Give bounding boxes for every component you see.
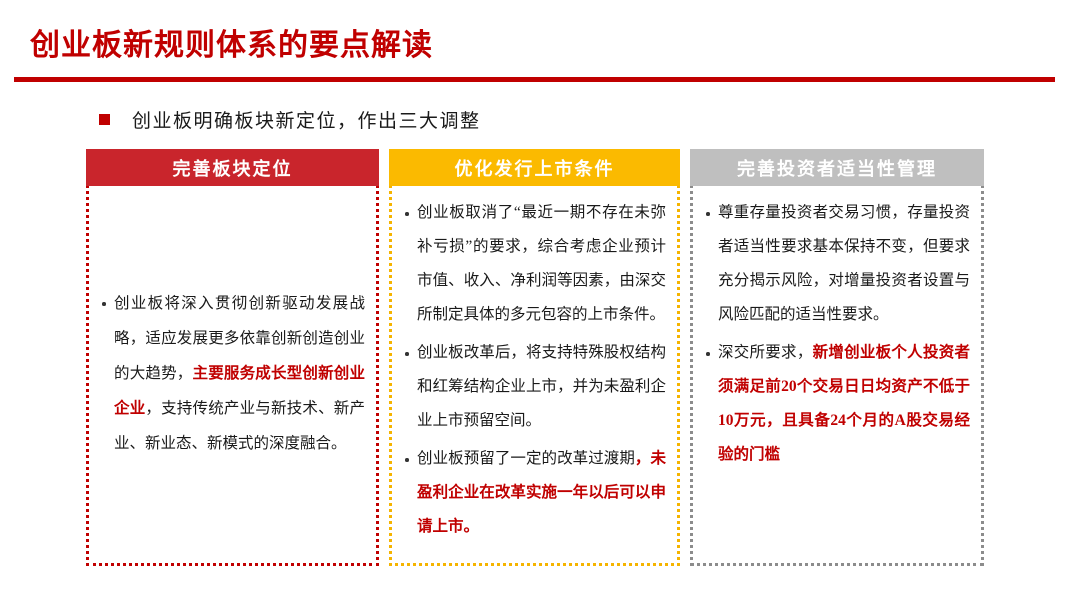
bullet-item: 尊重存量投资者交易习惯，存量投资者适当性要求基本保持不变，但要求充分揭示风险，对… — [704, 196, 970, 332]
column-header-listing-conditions: 优化发行上市条件 — [389, 149, 680, 186]
bullet-text: 深交所要求， — [718, 344, 813, 361]
bullet-list-investor-suitability: 尊重存量投资者交易习惯，存量投资者适当性要求基本保持不变，但要求充分揭示风险，对… — [704, 196, 970, 472]
column-body-board-positioning: 创业板将深入贯彻创新驱动发展战略，适应发展更多依靠创新创造创业的大趋势，主要服务… — [89, 186, 376, 563]
bullet-list-listing-conditions: 创业板取消了“最近一期不存在未弥补亏损”的要求，综合考虑企业预计市值、收入、净利… — [403, 196, 666, 544]
column-body-investor-suitability: 尊重存量投资者交易习惯，存量投资者适当性要求基本保持不变，但要求充分揭示风险，对… — [693, 186, 981, 563]
column-header-board-positioning: 完善板块定位 — [86, 149, 379, 186]
bullet-item: 创业板预留了一定的改革过渡期，未盈利企业在改革实施一年以后可以申请上市。 — [403, 442, 666, 544]
column-board-positioning: 完善板块定位 创业板将深入贯彻创新驱动发展战略，适应发展更多依靠创新创造创业的大… — [86, 149, 379, 566]
bullet-text: 创业板预留了一定的改革过渡期 — [417, 450, 635, 467]
bullet-list-board-positioning: 创业板将深入贯彻创新驱动发展战略，适应发展更多依靠创新创造创业的大趋势，主要服务… — [100, 286, 365, 465]
column-investor-suitability: 完善投资者适当性管理 尊重存量投资者交易习惯，存量投资者适当性要求基本保持不变，… — [690, 149, 984, 566]
page-title: 创业板新规则体系的要点解读 — [30, 20, 433, 64]
bullet-text: 尊重存量投资者交易习惯，存量投资者适当性要求基本保持不变，但要求充分揭示风险，对… — [718, 204, 970, 323]
column-header-investor-suitability: 完善投资者适当性管理 — [690, 149, 984, 186]
slide-root: 创业板新规则体系的要点解读 创业板明确板块新定位，作出三大调整 完善板块定位 创… — [0, 0, 1066, 600]
bullet-text: 创业板取消了“最近一期不存在未弥补亏损”的要求，综合考虑企业预计市值、收入、净利… — [417, 204, 666, 323]
bullet-text: ，支持传统产业与新技术、新产业、新业态、新模式的深度融合。 — [114, 400, 365, 452]
title-divider-rule — [14, 77, 1055, 82]
highlighted-text: 新增创业板个人投资者须满足前20个交易日日均资产不低于10万元，且具备24个月的… — [718, 344, 970, 463]
column-listing-conditions: 优化发行上市条件 创业板取消了“最近一期不存在未弥补亏损”的要求，综合考虑企业预… — [389, 149, 680, 566]
bullet-item: 创业板取消了“最近一期不存在未弥补亏损”的要求，综合考虑企业预计市值、收入、净利… — [403, 196, 666, 332]
square-bullet-icon — [99, 114, 110, 125]
three-column-group: 完善板块定位 创业板将深入贯彻创新驱动发展战略，适应发展更多依靠创新创造创业的大… — [86, 149, 984, 566]
bullet-item: 深交所要求，新增创业板个人投资者须满足前20个交易日日均资产不低于10万元，且具… — [704, 336, 970, 472]
bullet-item: 创业板改革后，将支持特殊股权结构和红筹结构企业上市，并为未盈利企业上市预留空间。 — [403, 336, 666, 438]
subheading-text: 创业板明确板块新定位，作出三大调整 — [132, 106, 481, 133]
bullet-item: 创业板将深入贯彻创新驱动发展战略，适应发展更多依靠创新创造创业的大趋势，主要服务… — [100, 286, 365, 461]
bullet-text: 创业板改革后，将支持特殊股权结构和红筹结构企业上市，并为未盈利企业上市预留空间。 — [417, 344, 666, 429]
column-body-listing-conditions: 创业板取消了“最近一期不存在未弥补亏损”的要求，综合考虑企业预计市值、收入、净利… — [392, 186, 677, 563]
subheading-block: 创业板明确板块新定位，作出三大调整 — [99, 106, 481, 133]
